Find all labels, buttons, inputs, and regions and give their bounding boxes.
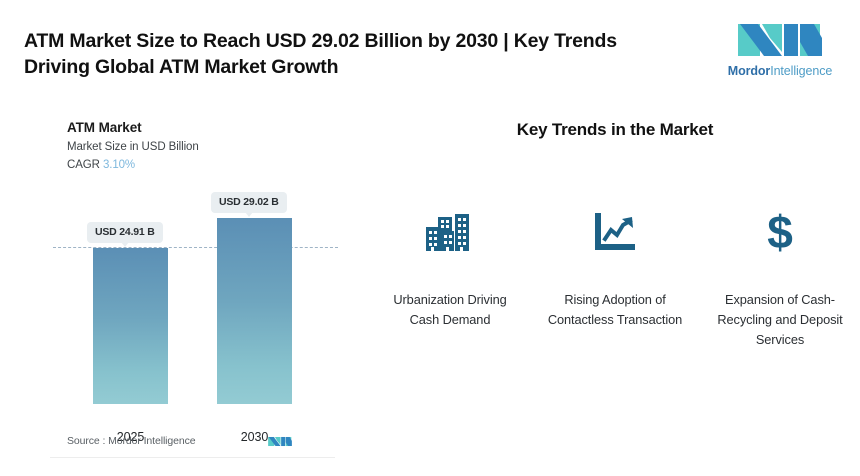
chart-panel: ATM Market Market Size in USD Billion CA… [45,106,345,458]
bar-2025 [93,248,168,404]
source-label: Source : Mordor Intelligence [67,435,196,447]
cagr-label: CAGR [67,159,100,171]
chart-subtitle: Market Size in USD Billion [67,141,199,153]
city-buildings-icon [422,206,478,258]
brand-name-light: Intelligence [770,64,832,78]
svg-text:$: $ [767,208,793,256]
growth-chart-arrow-icon [587,206,643,258]
brand-name: MordorIntelligence [722,64,838,78]
trend-label-urbanization: Urbanization Driving Cash Demand [380,290,520,330]
trend-label-contactless: Rising Adoption of Contactless Transacti… [545,290,685,330]
trend-item-urbanization: Urbanization Driving Cash Demand [380,206,520,350]
trend-item-cash-recycling: $ Expansion of Cash-Recycling and Deposi… [710,206,850,350]
header: ATM Market Size to Reach USD 29.02 Billi… [0,0,860,100]
mordor-m-logo-icon [734,20,826,60]
bar-chart-plot: USD 24.91 B USD 29.02 B 2025 2030 [45,186,345,416]
dollar-sign-icon: $ [752,206,808,258]
bar-2030 [217,218,292,404]
bar-value-label-2030: USD 29.02 B [211,192,287,213]
chart-title: ATM Market [67,120,142,135]
cagr-value: 3.10% [103,159,135,171]
trend-label-cash-recycling: Expansion of Cash-Recycling and Deposit … [710,290,850,350]
brand-logo: MordorIntelligence [722,20,838,82]
source-row: Source : Mordor Intelligence [67,434,325,452]
panel-divider [50,457,335,458]
page-title: ATM Market Size to Reach USD 29.02 Billi… [24,28,684,80]
bar-value-label-2025: USD 24.91 B [87,222,163,243]
mordor-m-logo-icon [267,434,293,449]
trend-item-contactless: Rising Adoption of Contactless Transacti… [545,206,685,350]
chart-cagr: CAGR 3.10% [67,159,135,171]
infographic-page: ATM Market Size to Reach USD 29.02 Billi… [0,0,860,476]
trend-columns: Urbanization Driving Cash Demand Rising … [380,206,850,350]
brand-name-bold: Mordor [728,64,770,78]
trends-panel: Key Trends in the Market [380,106,850,436]
trends-heading: Key Trends in the Market [380,120,850,140]
